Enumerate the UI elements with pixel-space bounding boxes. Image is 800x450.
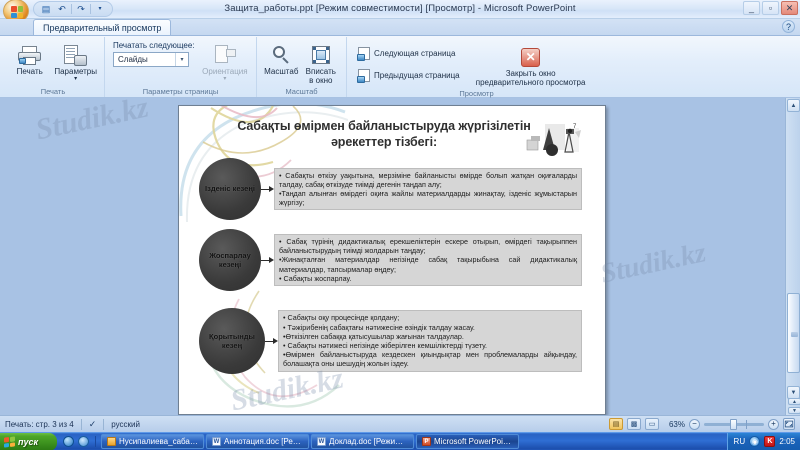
arrow-icon-3	[265, 337, 278, 346]
powerpoint-icon	[422, 437, 431, 446]
print-status-text: Печать: стр. 3 из 4	[5, 420, 74, 429]
zoom-slider-thumb[interactable]	[730, 419, 737, 430]
tab-print-preview[interactable]: Предварительный просмотр	[33, 19, 171, 35]
taskbar: пуск Нусипалиева_сабақ... Аннотация.doc …	[0, 432, 800, 450]
clock[interactable]: 2:05	[779, 437, 795, 446]
stage-3-bullet-5: •Өмірмен байланыстыруда кездескен қиынды…	[283, 350, 577, 368]
window-title: Защита_работы.ppt [Режим совместимости] …	[0, 3, 800, 14]
stage-circle-2-label: Жоспарлау кезеңі	[199, 251, 261, 270]
close-preview-button[interactable]: ✕ Закрыть окно предварительного просмотр…	[475, 41, 587, 89]
print-button[interactable]: Печать	[8, 39, 51, 78]
stage-3-bullet-1: • Сабақты оқу процесінде қолдану;	[283, 313, 577, 322]
powerpoint-window: ▤ ↶ ↷ ▾ Защита_работы.ppt [Режим совмест…	[0, 0, 800, 432]
scrollbar-thumb[interactable]	[787, 293, 800, 373]
ribbon-group-preview: Следующая страница Предыдущая страница ✕…	[346, 37, 606, 97]
ribbon-tab-strip: Предварительный просмотр ?	[0, 19, 800, 36]
fit-to-window-button[interactable]: Вписать в окно	[302, 39, 340, 87]
taskbar-item-label: Аннотация.doc [Реж...	[224, 437, 303, 446]
close-x-glyph: ✕	[521, 48, 540, 67]
print-what-value: Слайды	[118, 55, 175, 64]
view-button-slide-sorter[interactable]: ▩	[627, 418, 641, 430]
printer-icon	[18, 42, 41, 68]
zoom-level-text: 63%	[663, 420, 685, 429]
scroll-up-button[interactable]: ▲	[787, 99, 800, 112]
zoom-in-button[interactable]: +	[768, 419, 779, 430]
view-button-normal[interactable]: ▤	[609, 418, 623, 430]
stage-text-1: • Сабақты өткізу уақытына, мерзіміне бай…	[274, 168, 582, 211]
watermark-2: Studik.kz	[598, 237, 709, 290]
start-button-label: пуск	[18, 437, 38, 447]
status-divider-2	[103, 419, 104, 430]
zoom-slider-tick	[746, 420, 747, 429]
print-settings-icon	[64, 42, 87, 68]
scrollbar-grip	[791, 332, 798, 337]
zoom-slider[interactable]	[704, 423, 764, 426]
ribbon-group-zoom-title: Масштаб	[259, 87, 344, 97]
spelling-icon[interactable]: ✓	[89, 419, 97, 430]
page-nav-arrows[interactable]: ▲ ▼	[788, 398, 799, 414]
help-icon[interactable]: ?	[782, 20, 795, 33]
slide-page: Сабақты өмірмен байланыстыруда жүргізіле…	[178, 105, 606, 415]
taskbar-item-label: Microsoft PowerPoint ...	[434, 437, 513, 446]
word-document-icon	[317, 437, 326, 446]
folder-icon	[107, 437, 116, 446]
presentation-clipart-icon: 7	[525, 118, 587, 158]
stage-text-2: • Сабақ түрінің дидактикалық ерекшелікте…	[274, 234, 582, 286]
close-preview-icon: ✕	[521, 44, 540, 70]
antivirus-icon[interactable]: K	[764, 436, 775, 447]
language-indicator[interactable]: RU	[733, 437, 745, 446]
arrow-icon-2	[261, 256, 274, 265]
print-button-label: Печать	[17, 68, 43, 77]
stage-3-bullet-2: • Тәжірибенің сабақтағы нәтижесіне өзінд…	[283, 323, 577, 332]
ribbon-group-preview-title: Просмотр	[349, 89, 604, 98]
orientation-button[interactable]: Ориентация ▾	[200, 39, 250, 83]
ribbon-group-page-setup-title: Параметры страницы	[107, 86, 254, 97]
taskbar-item-doklad-doc[interactable]: Доклад.doc [Режим ...	[311, 434, 414, 449]
ribbon-group-zoom: Масштаб Вписать в окно Масштаб	[256, 37, 346, 97]
next-page-label: Следующая страница	[374, 49, 455, 58]
vertical-scrollbar[interactable]: ▲ ▼ ▲ ▼	[785, 98, 800, 415]
previous-page-button[interactable]: Предыдущая страница	[353, 66, 465, 85]
security-shield-icon[interactable]: ◉	[749, 436, 760, 447]
stage-2-bullet-2: •Жинақталған материалдар негізінде сабақ…	[279, 255, 577, 273]
ribbon-group-print: Печать Параметры ▾ Печать	[2, 37, 104, 97]
zoom-icon	[271, 42, 291, 68]
minimize-button[interactable]: _	[743, 1, 760, 15]
previous-page-label: Предыдущая страница	[374, 71, 460, 80]
chevron-down-icon[interactable]: ▾	[223, 77, 226, 82]
stage-text-3: • Сабақты оқу процесінде қолдану; • Тәжі…	[278, 310, 582, 371]
next-page-button[interactable]: Следующая страница	[353, 44, 465, 63]
fit-window-icon	[784, 419, 794, 429]
taskbar-item-label: Нусипалиева_сабақ...	[119, 437, 198, 446]
status-right-cluster: ▤ ▩ ▭ 63% − +	[609, 418, 800, 430]
taskbar-task-list: Нусипалиева_сабақ... Аннотация.doc [Реж.…	[96, 434, 727, 449]
stage-1-bullet-1: • Сабақты өткізу уақытына, мерзіміне бай…	[279, 171, 577, 189]
next-page-scroll-button[interactable]: ▼	[788, 407, 800, 414]
ribbon-group-page-setup: Печатать следующее: Слайды ▾ Ориентация …	[104, 37, 256, 97]
browser-icon[interactable]	[78, 436, 89, 447]
window-controls: _ ▫ ✕	[743, 1, 798, 15]
stage-row-1: Ізденіс кезеңі • Сабақты өткізу уақытына…	[199, 158, 591, 220]
language-text[interactable]: русский	[111, 420, 140, 429]
chevron-down-icon[interactable]: ▾	[175, 53, 188, 66]
stage-1-bullet-2: •Таңдап алынған өмірдегі оқиға жайлы мат…	[279, 189, 577, 207]
stage-2-bullet-3: • Сабақты жоспарлау.	[279, 274, 577, 283]
zoom-out-button[interactable]: −	[689, 419, 700, 430]
taskbar-item-folder[interactable]: Нусипалиева_сабақ...	[101, 434, 204, 449]
stage-circle-3: Қорытынды кезең	[199, 308, 265, 374]
print-what-combobox[interactable]: Слайды ▾	[113, 52, 189, 67]
print-what-label: Печатать следующее:	[113, 41, 198, 50]
stage-3-bullet-3: •Өткізілген сабаққа қатысушылар жағынан …	[283, 332, 577, 341]
stage-circle-3-label: Қорытынды кезең	[199, 332, 265, 351]
previous-page-scroll-button[interactable]: ▲	[788, 398, 800, 405]
fit-slide-to-window-button[interactable]	[783, 418, 795, 430]
chevron-down-icon[interactable]: ▾	[74, 77, 77, 82]
stage-circle-2: Жоспарлау кезеңі	[199, 229, 261, 291]
stage-circle-1: Ізденіс кезеңі	[199, 158, 261, 220]
zoom-button-label: Масштаб	[264, 68, 298, 77]
slide-title: Сабақты өмірмен байланыстыруда жүргізіле…	[234, 119, 534, 150]
view-button-slideshow[interactable]: ▭	[645, 418, 659, 430]
start-button[interactable]: пуск	[0, 433, 57, 450]
title-bar: ▤ ↶ ↷ ▾ Защита_работы.ppt [Режим совмест…	[0, 0, 800, 19]
close-preview-label: Закрыть окно предварительного просмотра	[476, 70, 586, 88]
status-divider-1	[81, 419, 82, 430]
stage-2-bullet-1: • Сабақ түрінің дидактикалық ерекшелікте…	[279, 237, 577, 255]
stage-row-2: Жоспарлау кезеңі • Сабақ түрінің дидакти…	[199, 229, 591, 291]
stage-row-3: Қорытынды кезең • Сабақты оқу процесінде…	[199, 308, 591, 374]
zoom-button[interactable]: Масштаб	[263, 39, 300, 78]
system-tray: RU ◉ K 2:05	[727, 433, 800, 450]
previous-page-icon	[358, 69, 370, 82]
stage-3-bullet-4: • Сабақты нәтижесі негізінде жіберілген …	[283, 341, 577, 350]
taskbar-item-powerpoint[interactable]: Microsoft PowerPoint ...	[416, 434, 519, 449]
print-settings-button[interactable]: Параметры ▾	[53, 39, 98, 83]
stage-circle-1-label: Ізденіс кезеңі	[205, 184, 255, 193]
word-document-icon	[212, 437, 221, 446]
ribbon-group-print-title: Печать	[4, 86, 102, 97]
fit-to-window-label: Вписать в окно	[303, 68, 339, 86]
windows-logo-icon	[4, 436, 15, 447]
status-bar: Печать: стр. 3 из 4 ✓ русский ▤ ▩ ▭ 63% …	[0, 415, 800, 432]
preview-canvas: Сабақты өмірмен байланыстыруда жүргізіле…	[0, 98, 800, 415]
orientation-icon	[214, 42, 236, 68]
ribbon: Печать Параметры ▾ Печать	[0, 36, 800, 98]
close-button[interactable]: ✕	[781, 1, 798, 15]
internet-explorer-icon[interactable]	[63, 436, 74, 447]
next-page-icon	[358, 47, 370, 60]
arrow-icon-1	[261, 185, 274, 194]
watermark-1: Studik.kz	[33, 98, 152, 148]
taskbar-item-annotation-doc[interactable]: Аннотация.doc [Реж...	[206, 434, 309, 449]
restore-button[interactable]: ▫	[762, 1, 779, 15]
fit-to-window-icon	[311, 42, 331, 68]
quick-launch-bar	[57, 436, 96, 447]
taskbar-item-label: Доклад.doc [Режим ...	[329, 437, 408, 446]
